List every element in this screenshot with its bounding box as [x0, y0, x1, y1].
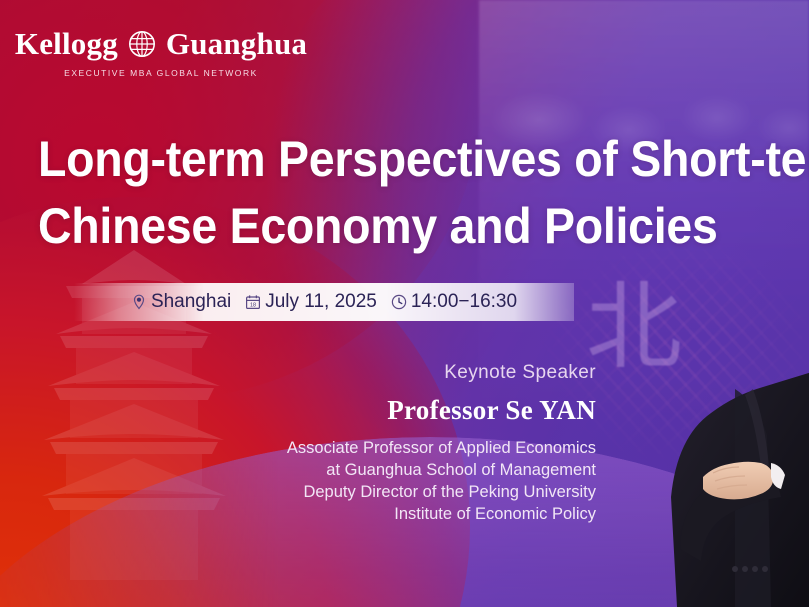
location-pin-icon	[131, 294, 147, 310]
event-poster: 北	[0, 0, 809, 607]
speaker-bio-line: at Guanghua School of Management	[176, 460, 596, 482]
brand-logo-row: Kellogg Guanghua	[30, 28, 292, 59]
speaker-bio-line: Deputy Director of the Peking University	[176, 482, 596, 504]
speaker-name: Professor Se YAN	[176, 394, 596, 426]
event-details-bar: Shanghai 18 July 11, 2025	[74, 283, 574, 321]
brand-kellogg-label: Kellogg	[15, 28, 118, 59]
speaker-bio-line: Institute of Economic Policy	[176, 504, 596, 526]
speaker-bio: Associate Professor of Applied Economics…	[176, 438, 596, 526]
globe-icon	[128, 30, 156, 58]
brand-logo: Kellogg Guanghua EXECUTIVE MBA GLOBAL NE…	[30, 28, 292, 78]
speaker-portrait-photo	[585, 317, 809, 607]
calendar-icon: 18	[245, 294, 261, 310]
keynote-speaker-label: Keynote Speaker	[176, 362, 596, 385]
event-time: 14:00−16:30	[391, 291, 517, 313]
page-title-line-1: Long-term Perspectives of Short-term	[38, 131, 809, 187]
speaker-bio-line: Associate Professor of Applied Economics	[176, 438, 596, 460]
speaker-info: Keynote Speaker Professor Se YAN Associa…	[176, 362, 596, 526]
brand-tagline: EXECUTIVE MBA GLOBAL NETWORK	[30, 68, 292, 78]
event-date: 18 July 11, 2025	[245, 291, 377, 313]
event-date-label: July 11, 2025	[265, 291, 377, 313]
event-location: Shanghai	[131, 291, 231, 313]
clock-icon	[391, 294, 407, 310]
page-title-line-2: Chinese Economy and Policies	[38, 193, 809, 260]
event-time-label: 14:00−16:30	[411, 291, 517, 313]
page-title: Long-term Perspectives of Short-term Chi…	[38, 126, 809, 259]
brand-guanghua-label: Guanghua	[166, 28, 307, 59]
svg-text:18: 18	[250, 302, 256, 308]
event-location-label: Shanghai	[151, 291, 231, 313]
